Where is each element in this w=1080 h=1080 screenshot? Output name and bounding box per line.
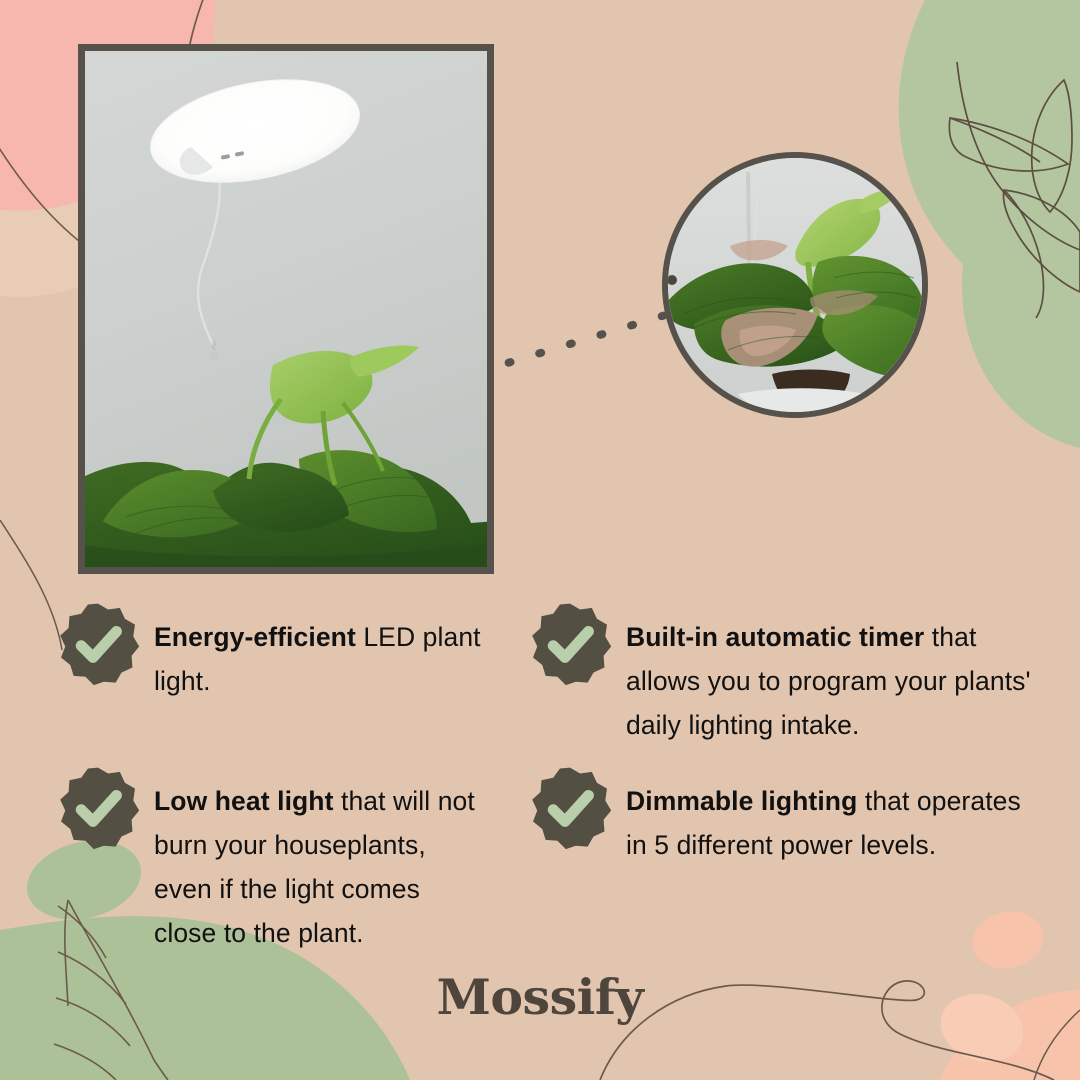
feature-bold-label: Low heat light: [154, 786, 334, 816]
check-badge-icon: [528, 602, 612, 686]
feature-bold-label: Built-in automatic timer: [626, 622, 924, 652]
feature-list: Energy-efficient LED plant light. Built-…: [0, 596, 1080, 946]
blob-green-right: [962, 120, 1080, 448]
product-photo: [85, 51, 487, 567]
feature-item-dimmable[interactable]: Dimmable lighting that operates in 5 dif…: [528, 764, 1048, 868]
feature-text: Dimmable lighting that operates in 5 dif…: [626, 764, 1048, 868]
feature-item-energy-efficient[interactable]: Energy-efficient LED plant light.: [56, 600, 486, 704]
detail-photo-circle[interactable]: [662, 152, 928, 418]
detail-photo: [668, 158, 922, 412]
check-badge-icon: [56, 602, 140, 686]
feature-item-low-heat[interactable]: Low heat light that will not burn your h…: [56, 764, 486, 956]
feature-item-automatic-timer[interactable]: Built-in automatic timer that allows you…: [528, 600, 1048, 748]
check-badge-icon: [56, 766, 140, 850]
infographic-canvas: Energy-efficient LED plant light. Built-…: [0, 0, 1080, 1080]
feature-text: Low heat light that will not burn your h…: [154, 764, 486, 956]
feature-text: Built-in automatic timer that allows you…: [626, 600, 1048, 748]
brand-logo[interactable]: Mossify: [0, 968, 1080, 1026]
feature-bold-label: Dimmable lighting: [626, 786, 857, 816]
check-badge-icon: [528, 766, 612, 850]
feature-bold-label: Energy-efficient: [154, 622, 356, 652]
product-photo-frame[interactable]: [78, 44, 494, 574]
line-art-leaf-branch-top-right: [949, 62, 1080, 318]
feature-text: Energy-efficient LED plant light.: [154, 600, 486, 704]
